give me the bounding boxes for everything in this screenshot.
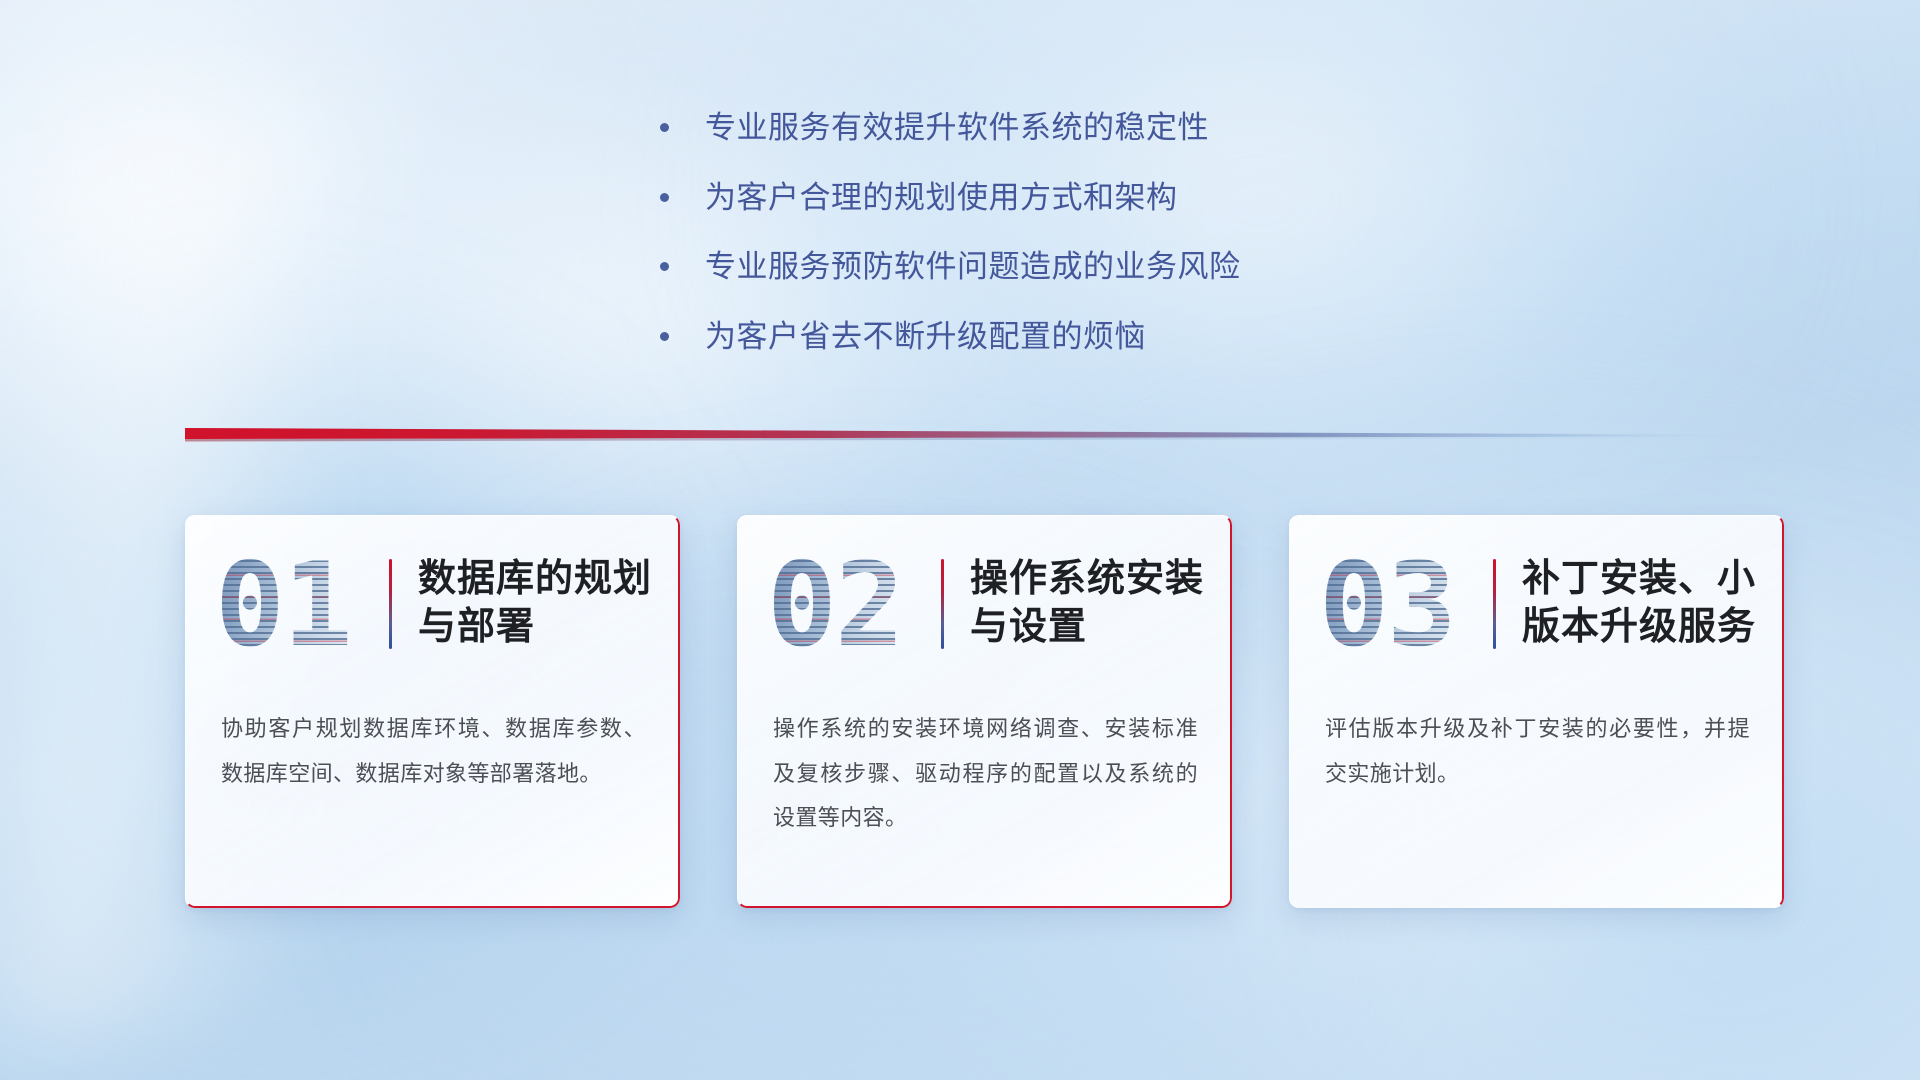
accent-bar-icon [941, 559, 944, 649]
bullet-dot-icon [660, 332, 669, 341]
service-card-01[interactable]: 01 01 数据库的规划与部署 协助客户规划数据库环境、数据库参数、数据库空间、… [185, 515, 680, 908]
list-item: 专业服务有效提升软件系统的稳定性 [660, 108, 1241, 148]
watermark-number-tint: 02 [767, 548, 903, 664]
bullet-dot-icon [660, 193, 669, 202]
watermark-number-tint: 03 [1319, 548, 1455, 664]
card-header: 02 02 操作系统安装与设置 [737, 515, 1232, 693]
accent-bar-icon [1493, 559, 1496, 649]
service-card-02[interactable]: 02 02 操作系统安装与设置 操作系统的安装环境网络调查、安装标准及复核步骤、… [737, 515, 1232, 908]
card-body-text: 操作系统的安装环境网络调查、安装标准及复核步骤、驱动程序的配置以及系统的设置等内… [737, 707, 1232, 841]
card-body-text: 评估版本升级及补丁安装的必要性，并提交实施计划。 [1289, 707, 1784, 796]
list-item: 专业服务预防软件问题造成的业务风险 [660, 247, 1241, 287]
card-title: 数据库的规划与部署 [418, 556, 680, 652]
accent-bar-icon [389, 559, 392, 649]
bullet-text: 专业服务有效提升软件系统的稳定性 [705, 108, 1209, 148]
watermark-number-tint: 01 [215, 548, 351, 664]
benefits-bullet-list: 专业服务有效提升软件系统的稳定性 为客户合理的规划使用方式和架构 专业服务预防软… [660, 108, 1241, 387]
card-body-text: 协助客户规划数据库环境、数据库参数、数据库空间、数据库对象等部署落地。 [185, 707, 680, 796]
card-title: 操作系统安装与设置 [970, 556, 1232, 652]
section-divider [185, 424, 1725, 446]
service-card-grid: 01 01 数据库的规划与部署 协助客户规划数据库环境、数据库参数、数据库空间、… [0, 515, 1920, 908]
card-header: 01 01 数据库的规划与部署 [185, 515, 680, 693]
bullet-text: 为客户省去不断升级配置的烦恼 [705, 317, 1146, 357]
watermark-number: 02 02 [767, 545, 931, 667]
bullet-text: 为客户合理的规划使用方式和架构 [705, 178, 1178, 218]
bullet-dot-icon [660, 262, 669, 271]
card-header: 03 03 补丁安装、小版本升级服务 [1289, 515, 1784, 693]
card-title: 补丁安装、小版本升级服务 [1522, 556, 1784, 652]
bullet-text: 专业服务预防软件问题造成的业务风险 [705, 247, 1241, 287]
list-item: 为客户省去不断升级配置的烦恼 [660, 317, 1241, 357]
bullet-dot-icon [660, 123, 669, 132]
list-item: 为客户合理的规划使用方式和架构 [660, 178, 1241, 218]
service-card-03[interactable]: 03 03 补丁安装、小版本升级服务 评估版本升级及补丁安装的必要性，并提交实施… [1289, 515, 1784, 908]
watermark-number: 01 01 [215, 545, 379, 667]
watermark-number: 03 03 [1319, 545, 1483, 667]
